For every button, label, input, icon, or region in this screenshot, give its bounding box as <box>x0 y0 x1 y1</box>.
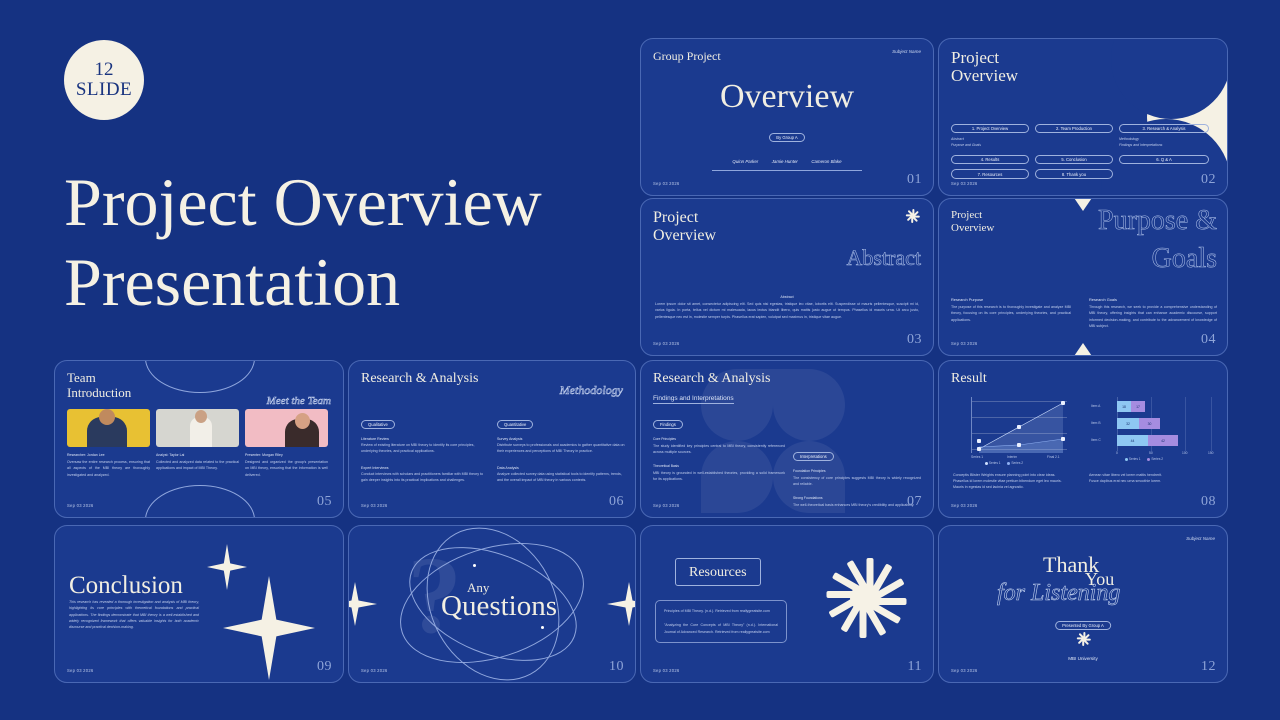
slide02-date: Sep 03 2026 <box>951 181 978 186</box>
slide12-byline: Presented By Group A <box>1055 621 1111 631</box>
slide03-title-line2: Overview <box>653 227 921 245</box>
slide12-date: Sep 03 2026 <box>951 668 978 673</box>
slide04-col2-label: Research Goals <box>1089 297 1217 302</box>
slide07-subtitle: Findings and Interpretations <box>653 395 734 404</box>
chart-line: Series 1 Interim Final 2.1 Series 1 Seri… <box>959 397 1069 463</box>
slide07-pill-findings[interactable]: Findings <box>653 420 683 430</box>
chart-bar-cat-1: Item B <box>1091 421 1101 425</box>
slide07-block1-body: The study identified key principles cent… <box>653 443 785 456</box>
slide06-pill-qualitative[interactable]: Qualitative <box>361 420 395 430</box>
slide12-script-line: for Listening <box>997 580 1120 607</box>
slide02-sub-2: Purpose and Goals <box>951 143 1029 149</box>
member-bio-1: Oversaw the entire research process, ens… <box>67 459 150 478</box>
slide11-ref-1: Principles of MBI Theory. (n.d.). Retrie… <box>664 608 778 614</box>
slide07-block2-body: MBI theory is grounded in well-establish… <box>653 470 785 483</box>
slide07-block3-body: The consistency of core principles sugge… <box>793 475 921 488</box>
asterisk-icon <box>905 209 919 223</box>
member-name-2: Analyst: Taylor Lai <box>156 453 239 457</box>
slide09-date: Sep 03 2026 <box>67 668 94 673</box>
slide06-block1-label: Literature Review <box>361 437 487 441</box>
slide03-outline-word: Abstract <box>846 245 921 271</box>
slide01-subject: Subject Name <box>892 49 921 54</box>
slide06-block4-label: Data Analysis <box>497 466 625 470</box>
slide03-body-label: Abstract <box>655 295 919 299</box>
slide01-presenter-2: Jamie Hunter <box>772 159 798 164</box>
chart-bar-legend-2: Series 2 <box>1151 457 1163 461</box>
member-name-1: Researcher: Jordan Lee <box>67 453 150 457</box>
slide-thumbnail-02[interactable]: Project Overview 1. Project Overview Abs… <box>938 38 1228 196</box>
slide05-number: 05 <box>317 494 332 510</box>
slide05-date: Sep 03 2026 <box>67 503 94 508</box>
slide08-bullet-r2: Fusce dapibus erat nec urna smoothie lor… <box>1089 479 1217 485</box>
slide06-block2-label: Survey Analysis <box>497 437 625 441</box>
slide11-date: Sep 03 2026 <box>653 668 680 673</box>
slide01-eyebrow: Group Project <box>653 49 921 64</box>
slide12-footer: MBI University <box>939 656 1227 661</box>
slide07-block4-label: Strong Foundations <box>793 496 921 500</box>
chart-line-legend-2: Series 2 <box>1011 461 1023 465</box>
slide08-bullet-l3: Mauris in egestas id sed lacinia vel agn… <box>953 485 1078 491</box>
slide-thumbnail-06[interactable]: Research & Analysis Methodology Qualitat… <box>348 360 636 518</box>
slide06-block2-body: Distribute surveys to professionals and … <box>497 443 625 455</box>
slide06-number: 06 <box>609 494 624 510</box>
slide-thumbnail-03[interactable]: Project Overview Abstract Abstract Lorem… <box>640 198 934 356</box>
slide07-number: 07 <box>907 494 922 510</box>
slide10-number: 10 <box>609 659 624 675</box>
slide07-date: Sep 03 2026 <box>653 503 680 508</box>
bar-1-series-1: 32 <box>1117 418 1139 429</box>
slide02-toc-4[interactable]: 4. Results <box>951 155 1029 165</box>
slide01-date: Sep 03 2026 <box>653 181 680 186</box>
chart-bar-xtick-3: 150 <box>1208 451 1214 455</box>
chart-bar: Item A 18 17 Item B 32 30 Item C 44 42 0… <box>1089 397 1214 463</box>
slide08-date: Sep 03 2026 <box>951 503 978 508</box>
slide03-number: 03 <box>907 332 922 348</box>
slide06-block3-body: Conduct interviews with scholars and pra… <box>361 472 487 484</box>
asterisk-icon <box>1076 632 1090 646</box>
slide03-title-line1: Project <box>653 209 921 227</box>
chart-bar-xtick-1: 50 <box>1149 451 1153 455</box>
chart-bar-xtick-2: 100 <box>1182 451 1188 455</box>
slide02-toc-5[interactable]: 5. Conclusion <box>1035 155 1113 165</box>
slide02-toc-1[interactable]: 1. Project Overview <box>951 124 1029 134</box>
slide04-number: 04 <box>1201 332 1216 348</box>
bar-0-series-2: 17 <box>1131 401 1145 412</box>
chart-bar-cat-2: Item C <box>1091 438 1101 442</box>
chart-line-tick-2: Final 2.1 <box>1047 455 1060 459</box>
slide03-body: Lorem ipsum dolor sit amet, consectetur … <box>655 301 919 320</box>
slide09-body: This research has revealed a thorough in… <box>69 599 199 630</box>
slide07-title: Research & Analysis <box>653 371 921 387</box>
slide08-title: Result <box>951 371 1215 387</box>
slide02-toc-8[interactable]: 8. Thank you <box>1035 169 1113 179</box>
slide12-subject: Subject Name <box>1186 536 1215 541</box>
slide11-title: Resources <box>689 565 747 580</box>
slide06-script-word: Methodology <box>560 383 623 398</box>
slide07-block1-label: Core Principles <box>653 437 785 441</box>
chart-bar-xtick-0: 0 <box>1116 451 1118 455</box>
slide11-ref-2: "Analyzing the Core Concepts of MBI Theo… <box>664 622 778 635</box>
slide07-block3-label: Foundation Principles <box>793 469 921 473</box>
slide04-date: Sep 03 2026 <box>951 341 978 346</box>
slide-thumbnail-08[interactable]: Result Series 1 <box>938 360 1228 518</box>
slide01-title: Overview <box>653 78 921 116</box>
slide-thumbnail-01[interactable]: Group Project Subject Name Overview By G… <box>640 38 934 196</box>
slide01-byline: By Group A <box>769 133 804 143</box>
chart-line-tick-1: Interim <box>1007 455 1017 459</box>
member-bio-3: Designed and organized the group's prese… <box>245 459 328 478</box>
slide12-number: 12 <box>1201 659 1216 675</box>
slide-thumbnail-04[interactable]: Project Overview Purpose & Goals Researc… <box>938 198 1228 356</box>
slide07-pill-interpretations[interactable]: Interpretations <box>793 452 834 462</box>
member-photo-2 <box>156 409 239 447</box>
chart-bar-legend-1: Series 1 <box>1129 457 1141 461</box>
slide06-block1-body: Review of existing literature on MBI the… <box>361 443 487 455</box>
slide-thumbnail-09[interactable]: Conclusion This research has revealed a … <box>54 525 344 683</box>
slide06-block3-label: Expert Interviews <box>361 466 487 470</box>
slide-thumbnail-07[interactable]: Research & Analysis Findings and Interpr… <box>640 360 934 518</box>
slide07-block4-body: The well-theoretical basis enhances MBI … <box>793 502 921 508</box>
slide06-date: Sep 03 2026 <box>361 503 388 508</box>
slide02-title-line2: Overview <box>951 67 1215 85</box>
slide09-number: 09 <box>317 659 332 675</box>
slide-thumbnail-grid: Group Project Subject Name Overview By G… <box>54 38 1228 684</box>
slide-thumbnail-10[interactable]: ? Any Questions Sep 03 2026 10 <box>348 525 636 683</box>
slide08-bullet-l2: Phasellus id lorem molestie vitae pretiu… <box>953 479 1078 485</box>
chart-bar-cat-0: Item A <box>1091 404 1100 408</box>
bar-1-series-2: 30 <box>1139 418 1160 429</box>
slide01-presenter-3: Cameron Blake <box>811 159 841 164</box>
slide06-block4-body: Analyze collected survey data using stat… <box>497 472 625 484</box>
member-bio-2: Collected and analyzed data related to t… <box>156 459 239 472</box>
slide05-script-word: Meet the Team <box>267 395 331 407</box>
chart-line-tick-0: Series 1 <box>971 455 983 459</box>
slide03-date: Sep 03 2026 <box>653 341 680 346</box>
slide02-toc-3[interactable]: 3. Research & Analysis <box>1119 124 1209 134</box>
slide08-number: 08 <box>1201 494 1216 510</box>
slide02-sub-4: Findings and Interpretations <box>1119 143 1209 149</box>
slide04-outline-line2: Goals <box>1152 243 1217 275</box>
slide07-block2-label: Theoretical Basis <box>653 464 785 468</box>
slide04-col1-label: Research Purpose <box>951 297 1071 302</box>
slide02-number: 02 <box>1201 172 1216 188</box>
bar-2-series-1: 44 <box>1117 435 1148 446</box>
slide-thumbnail-12[interactable]: Subject Name Thank You for Listening Pre… <box>938 525 1228 683</box>
slide04-col1-body: The purpose of this research is to thoro… <box>951 304 1071 323</box>
slide-thumbnail-05[interactable]: Team Introduction Meet the Team <box>54 360 344 518</box>
slide11-number: 11 <box>908 659 922 675</box>
slide10-title-large: Questions <box>441 590 557 623</box>
slide01-number: 01 <box>907 172 922 188</box>
slide10-date: Sep 03 2026 <box>361 668 388 673</box>
bar-2-series-2: 42 <box>1148 435 1178 446</box>
member-photo-3 <box>245 409 328 447</box>
bar-0-series-1: 18 <box>1117 401 1131 412</box>
slide04-col2-body: Through this research, we seek to provid… <box>1089 304 1217 329</box>
member-name-3: Presenter: Morgan Riley <box>245 453 328 457</box>
slide-thumbnail-11[interactable]: Resources Principles of MBI Theory. (n.d… <box>640 525 934 683</box>
slide06-pill-quantitative[interactable]: Quantitative <box>497 420 533 430</box>
slide02-toc-7[interactable]: 7. Resources <box>951 169 1029 179</box>
member-photo-1 <box>67 409 150 447</box>
slide04-outline-line1: Purpose & <box>1098 205 1217 237</box>
slide01-presenter-1: Quinn Parker <box>732 159 758 164</box>
chart-line-legend-1: Series 1 <box>989 461 1001 465</box>
slide02-title-line1: Project <box>951 49 1215 67</box>
slide09-title: Conclusion <box>69 572 183 600</box>
slide02-toc-2[interactable]: 2. Team Production <box>1035 124 1113 134</box>
slide02-toc-6[interactable]: 6. Q & A <box>1119 155 1209 165</box>
slide05-title-line1: Team <box>67 371 331 386</box>
